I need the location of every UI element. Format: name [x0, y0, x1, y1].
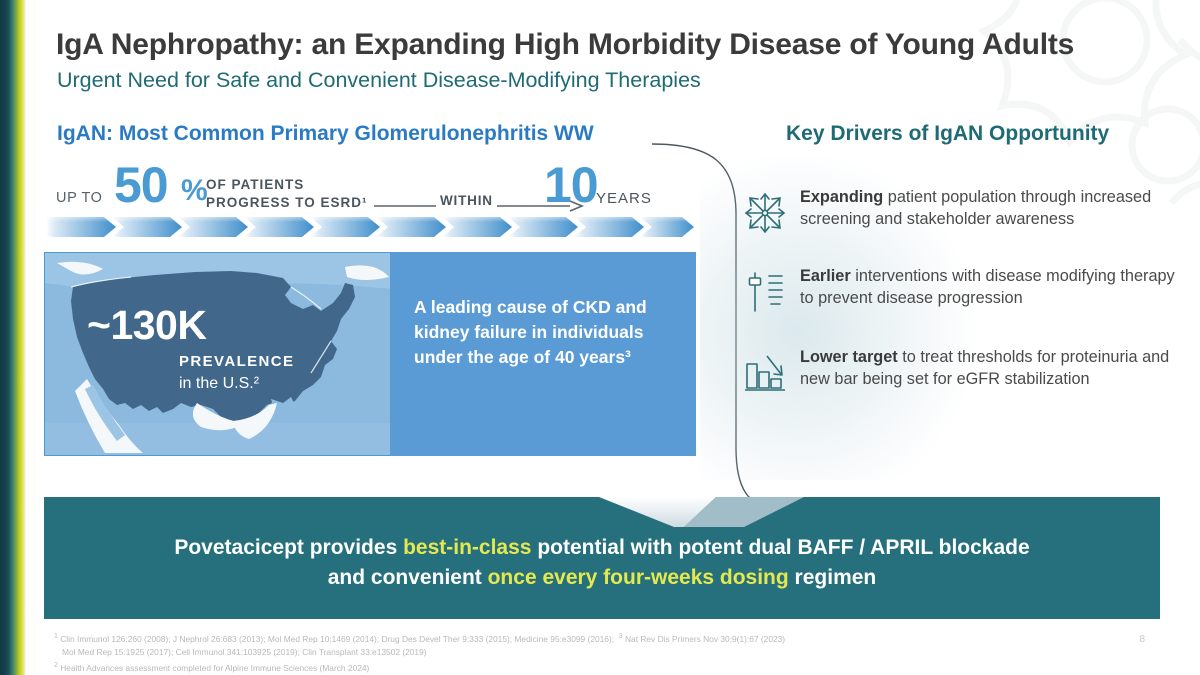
driver-text-earlier: Earlier interventions with disease modif…	[800, 265, 1190, 310]
banner-line1-highlight: best-in-class	[403, 536, 531, 559]
page-title: IgA Nephropathy: an Expanding High Morbi…	[56, 28, 1074, 62]
footnote-text-3: Health Advances assessment completed for…	[60, 663, 369, 673]
driver-lead-lower-target: Lower target	[800, 348, 898, 366]
expand-arrows-icon	[742, 186, 800, 241]
page-number: 8	[1139, 634, 1145, 645]
driver-text-expanding: Expanding patient population through inc…	[800, 186, 1190, 231]
stat-percent-symbol: %	[181, 176, 208, 206]
left-gradient-bar-fade	[26, 0, 36, 675]
footnote-line-2: Mol Med Rep 15:1925 (2017); Cell Immunol…	[54, 646, 1004, 660]
footnote-marker-2: 2	[54, 662, 58, 669]
driver-lead-earlier: Earlier	[800, 267, 851, 285]
statistic-row: UP TO 50 % OF PATIENTS PROGRESS TO ESRD¹…	[56, 168, 696, 218]
chevron-progression-band	[46, 216, 694, 238]
slider-levels-icon	[742, 265, 800, 320]
stat-connector-label: WITHIN	[436, 193, 497, 208]
declining-bar-chart-icon	[742, 346, 800, 401]
driver-rest-earlier: interventions with disease modifying the…	[800, 267, 1175, 307]
footnote-marker-1: 1	[54, 633, 58, 640]
us-prevalence-map-card: ~130K PREVALENCE in the U.S.²	[44, 252, 390, 456]
footnote-text-2: Mol Med Rep 15:1925 (2017); Cell Immunol…	[62, 647, 427, 657]
key-drivers-list: Expanding patient population through inc…	[742, 186, 1192, 423]
ckd-statement-card: A leading cause of CKD and kidney failur…	[390, 252, 696, 456]
banner-line2-highlight: once every four-weeks dosing	[488, 566, 789, 589]
footnote-line-3: 2 Health Advances assessment completed f…	[54, 660, 1004, 675]
driver-text-lower-target: Lower target to treat thresholds for pro…	[800, 346, 1190, 391]
driver-lead-expanding: Expanding	[800, 188, 883, 206]
driver-item-earlier: Earlier interventions with disease modif…	[742, 265, 1192, 320]
stat-detail-line1: OF PATIENTS	[206, 177, 304, 192]
driver-item-lower-target: Lower target to treat thresholds for pro…	[742, 346, 1192, 401]
stat-detail: OF PATIENTS PROGRESS TO ESRD¹	[206, 176, 368, 212]
summary-banner-text: Povetacicept provides best-in-class pote…	[44, 533, 1160, 594]
stat-years-number: 10	[544, 160, 598, 210]
banner-line1-pre: Povetacicept provides	[174, 536, 403, 559]
stat-detail-line2: PROGRESS TO ESRD¹	[206, 195, 368, 210]
left-section-heading: IgAN: Most Common Primary Glomerulonephr…	[57, 122, 594, 146]
map-prevalence-value: ~130K	[87, 305, 206, 346]
stat-big-number: 50	[114, 160, 168, 210]
summary-banner: Povetacicept provides best-in-class pote…	[44, 497, 1160, 619]
footnotes: 1 Clin Immunol 126:260 (2008); J Nephrol…	[54, 631, 1004, 675]
stat-prefix: UP TO	[56, 190, 103, 206]
page-subtitle: Urgent Need for Safe and Convenient Dise…	[57, 68, 701, 93]
stat-years-label: YEARS	[596, 190, 652, 207]
driver-item-expanding: Expanding patient population through inc…	[742, 186, 1192, 241]
banner-line1-post: potential with potent dual BAFF / APRIL …	[531, 536, 1029, 559]
banner-line2-post: regimen	[789, 566, 877, 589]
map-prevalence-label: PREVALENCE	[179, 353, 294, 370]
map-prevalence-sublabel: in the U.S.²	[179, 375, 259, 393]
ckd-statement-text: A leading cause of CKD and kidney failur…	[414, 295, 682, 370]
left-gradient-bar	[0, 0, 26, 675]
footnote-marker-3: 3	[619, 633, 623, 640]
right-section-heading: Key Drivers of IgAN Opportunity	[786, 122, 1109, 146]
banner-line2-pre: and convenient	[328, 566, 488, 589]
footnote-line-1: 1 Clin Immunol 126:260 (2008); J Nephrol…	[54, 631, 1004, 646]
footnote-text-1: Clin Immunol 126:260 (2008); J Nephrol 2…	[60, 634, 614, 644]
footnote-text-1b: Nat Rev Dis Primers Nov 30;9(1):67 (2023…	[625, 634, 785, 644]
banner-notch-shape	[44, 497, 1160, 527]
